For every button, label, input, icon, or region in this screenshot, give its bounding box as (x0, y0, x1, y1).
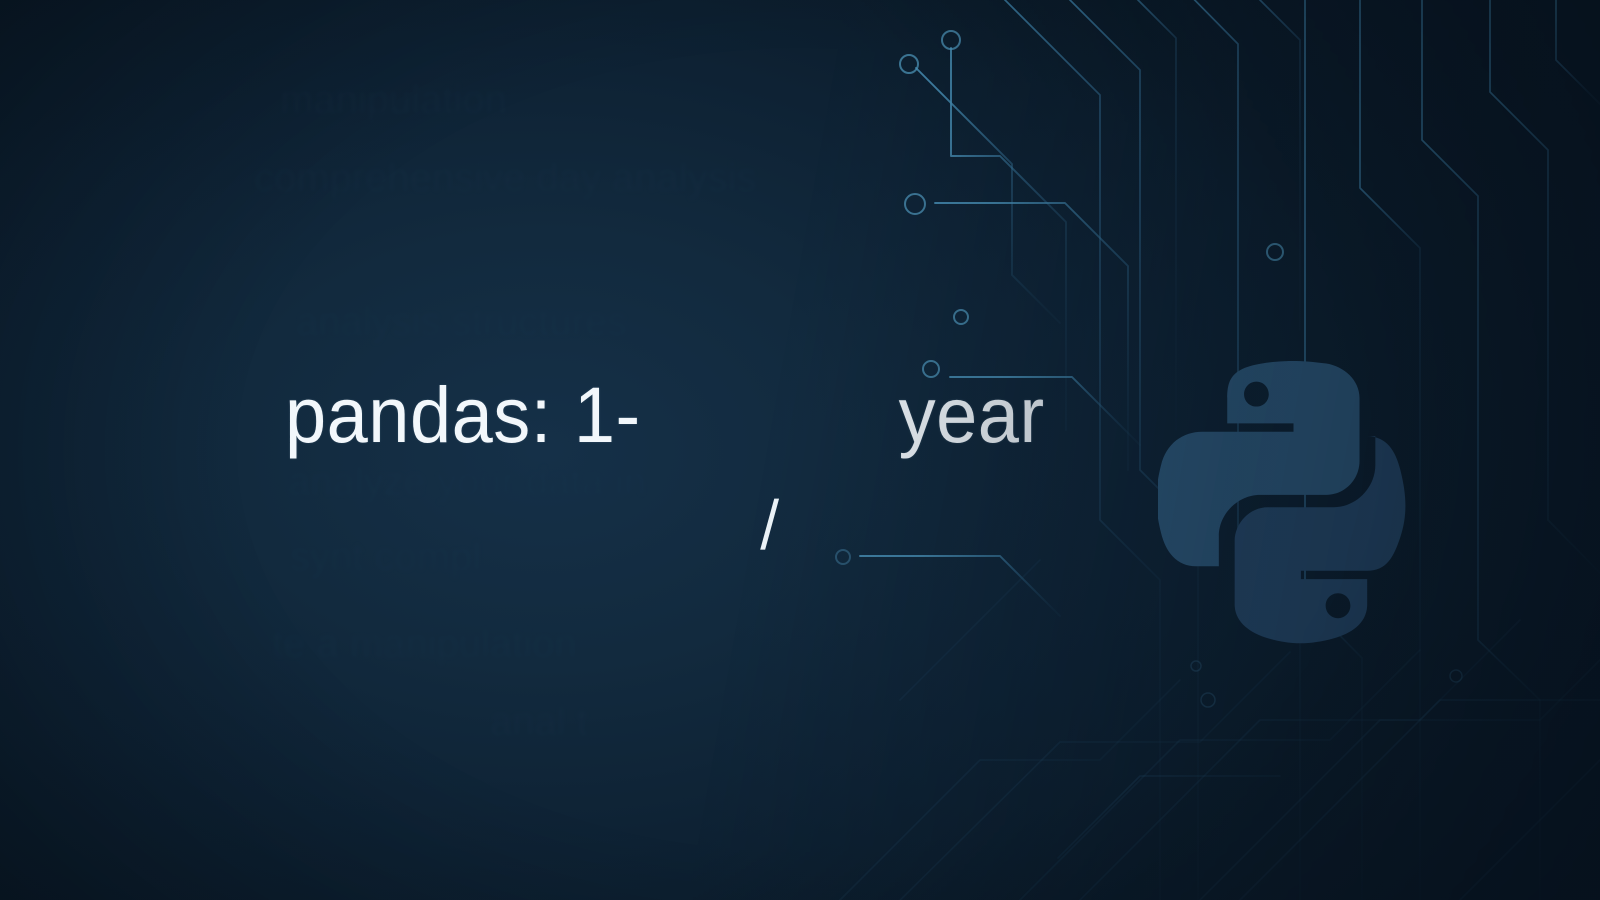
background-vignette (0, 0, 1600, 900)
slide-canvas: manipulation comprehensive day analysis … (0, 0, 1600, 900)
